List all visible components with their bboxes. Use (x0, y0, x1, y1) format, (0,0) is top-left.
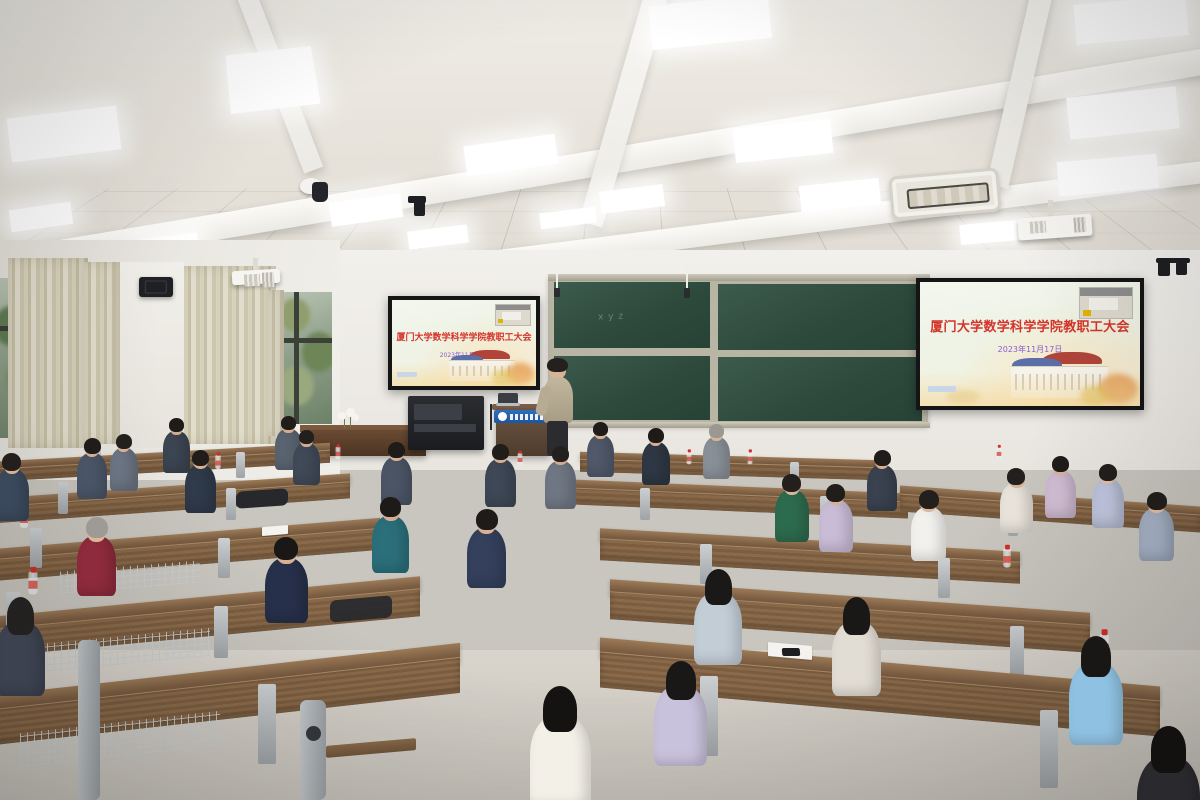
audience-hair (782, 474, 801, 492)
audience-hair (874, 450, 891, 466)
bag-on-desk (236, 488, 288, 509)
audience-torso (1092, 479, 1124, 528)
audience-hair (843, 597, 870, 635)
audience-hair (492, 444, 509, 460)
audience-torso (485, 459, 516, 507)
audience-member (545, 448, 576, 512)
chalk-marks: x y z (598, 312, 624, 323)
presenter-at-podium (540, 360, 576, 456)
audience-hair (593, 422, 608, 436)
hanging-light-cord (686, 262, 688, 290)
audience-torso (77, 453, 107, 499)
audience-hair (281, 416, 296, 430)
audience-hair (552, 446, 569, 462)
lecture-hall-photo: x y z 厦门大学数学科学学院教职工大会 2023年11月17日 (0, 0, 1200, 800)
audience-hair (919, 490, 939, 509)
audience-torso (819, 500, 853, 552)
chair-pivot-disc (306, 726, 321, 741)
audience-torso (911, 507, 946, 561)
audience-member (867, 452, 897, 514)
audience-hair (388, 442, 405, 458)
hanging-light-cord (554, 288, 560, 297)
left-projection-screen[interactable]: 厦门大学数学科学学院教职工大会 2023年11月17日 (388, 296, 540, 390)
audience-torso (265, 558, 308, 623)
water-bottle (518, 453, 523, 465)
right-projection-screen[interactable]: 厦门大学数学科学学院教职工大会 2023年11月17日 (916, 278, 1144, 410)
audience-torso (587, 435, 614, 477)
curtain-left-3 (184, 266, 276, 444)
audience-hair (299, 430, 314, 444)
audience-torso (1045, 471, 1076, 518)
audience-member (0, 455, 29, 525)
hanging-light-cord (556, 266, 558, 290)
audience-torso (1000, 483, 1033, 533)
audience-member (832, 600, 881, 702)
university-logo-icon (498, 412, 507, 421)
blackboard-panel-left-bottom (554, 356, 710, 420)
curtain-left-4 (268, 290, 284, 436)
audience-member (77, 520, 116, 601)
podium-laptop[interactable] (498, 393, 518, 406)
wall-bracket-right (1176, 262, 1187, 275)
audience-hair (274, 537, 298, 560)
audience-member (911, 492, 946, 565)
audience-member (1139, 494, 1174, 565)
slide-title-left: 厦门大学数学科学学院教职工大会 (392, 330, 536, 343)
right-screen-surface: 厦门大学数学科学学院教职工大会 2023年11月17日 (920, 282, 1140, 406)
audience-hair (476, 509, 498, 530)
audience-hair (84, 438, 101, 454)
audience-torso (185, 465, 216, 513)
av-equipment-rack[interactable] (408, 396, 484, 450)
blackboard-panel-right-top (718, 284, 922, 350)
audience-hair (380, 497, 401, 517)
wall-bracket-right (1156, 258, 1190, 263)
water-bottle (1003, 549, 1011, 568)
audience-torso (1139, 508, 1174, 561)
audience-torso (0, 469, 29, 521)
audience-member (110, 436, 138, 493)
audience-torso (775, 490, 809, 542)
audience-hair (826, 484, 845, 502)
audience-hair (1099, 464, 1117, 481)
audience-member (587, 424, 614, 480)
audience-member (703, 426, 730, 482)
ceiling-camera-body (312, 182, 328, 202)
ceiling-light-panel (226, 46, 321, 114)
audience-member (819, 486, 853, 556)
audience-hair (1151, 726, 1186, 773)
audience-hair (169, 418, 184, 432)
slide-corner-badge (397, 372, 417, 377)
hanging-light-cord (684, 288, 690, 298)
audience-hair (648, 428, 664, 443)
audience-torso (110, 448, 138, 491)
slide-corner-badge (928, 386, 956, 392)
audience-hair (666, 661, 696, 700)
audience-hair (709, 424, 724, 438)
ceiling-light-panel (648, 0, 772, 50)
blackboard-panel-right-bottom (718, 357, 922, 421)
audience-member (0, 600, 45, 702)
audience-hair (7, 597, 34, 635)
blackboard-top-rail (548, 274, 930, 281)
audience-hair (1052, 456, 1069, 472)
audience-member (372, 500, 409, 577)
audience-member (1000, 470, 1033, 537)
ceiling-projector-left (232, 269, 281, 285)
audience-hair (705, 569, 732, 605)
water-bottle (748, 452, 753, 464)
water-bottle (336, 447, 341, 459)
wall-speaker-left (139, 277, 173, 297)
audience-member (694, 572, 742, 670)
water-bottle (997, 447, 1002, 459)
audience-member (1092, 466, 1124, 532)
left-screen-surface: 厦门大学数学科学学院教职工大会 2023年11月17日 (392, 300, 536, 386)
chair-frame-foreground (300, 700, 326, 800)
audience-torso (642, 442, 670, 485)
water-bottle (28, 572, 37, 595)
audience-hair (1007, 468, 1025, 485)
wall-speaker-right (1158, 262, 1170, 276)
audience-hair (1081, 636, 1111, 677)
projector-mount-bracket (408, 196, 426, 203)
audience-member (1045, 458, 1076, 521)
audience-hair (1147, 492, 1167, 510)
audience-member (467, 512, 506, 593)
audience-member (775, 476, 809, 546)
audience-member (1137, 730, 1200, 800)
audience-torso (703, 437, 730, 479)
ceiling-light-panel (7, 105, 122, 162)
water-bottle (687, 452, 692, 464)
audience-torso (293, 443, 320, 485)
audience-torso (545, 461, 576, 509)
water-bottle (215, 455, 221, 469)
audience-member (1069, 640, 1123, 752)
audience-member (642, 430, 670, 487)
audience-hair (2, 453, 21, 471)
audience-hair (86, 517, 108, 538)
slide-title-right: 厦门大学数学科学学院教职工大会 (920, 316, 1140, 335)
audience-member (654, 664, 707, 773)
audience-hair (116, 434, 132, 449)
audience-torso (77, 536, 116, 596)
audience-torso (867, 465, 897, 511)
audience-member (293, 432, 320, 488)
curtain-left-1 (8, 258, 88, 448)
audience-member (485, 446, 516, 510)
chair-frame-foreground (78, 640, 100, 800)
audience-hair (192, 450, 209, 466)
slide-inset-thumbnail (1079, 287, 1133, 319)
audience-hair (543, 686, 577, 732)
curtain-left-2 (84, 262, 122, 444)
audience-member (530, 690, 591, 800)
audience-member (185, 452, 216, 516)
flower-arrangement (332, 408, 362, 428)
audience-member (77, 440, 107, 502)
ceiling-light-panel (1073, 0, 1188, 45)
audience-torso (467, 528, 506, 588)
audience-torso (372, 516, 409, 573)
phone-on-desk (782, 648, 801, 656)
presenter-hair (547, 358, 568, 372)
slide-inset-thumbnail (495, 304, 531, 326)
audience-member (265, 540, 308, 628)
window-left-near (276, 292, 332, 424)
ac-vent (906, 182, 989, 209)
